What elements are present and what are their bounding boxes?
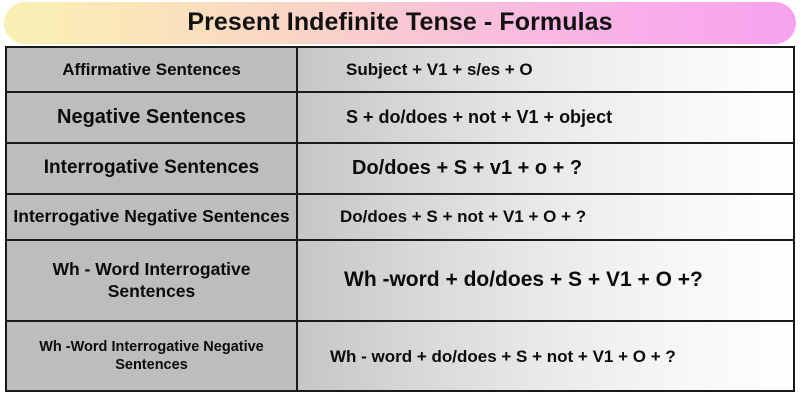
table-row: Interrogative Negative Sentences Do/does… bbox=[6, 194, 794, 240]
sentence-type-cell: Negative Sentences bbox=[6, 92, 297, 143]
sentence-type-cell: Wh - Word Interrogative Sentences bbox=[6, 240, 297, 322]
table-row: Negative Sentences S + do/does + not + V… bbox=[6, 92, 794, 143]
formula-cell: S + do/does + not + V1 + object bbox=[297, 92, 794, 143]
sentence-type-cell: Interrogative Sentences bbox=[6, 143, 297, 194]
page-title: Present Indefinite Tense - Formulas bbox=[187, 10, 612, 37]
sentence-type-cell: Wh -Word Interrogative Negative Sentence… bbox=[6, 321, 297, 391]
table-row: Wh -Word Interrogative Negative Sentence… bbox=[6, 321, 794, 391]
sentence-type-cell: Affirmative Sentences bbox=[6, 47, 297, 92]
formula-cell: Do/does + S + not + V1 + O + ? bbox=[297, 194, 794, 240]
table-row: Interrogative Sentences Do/does + S + v1… bbox=[6, 143, 794, 194]
table-row: Affirmative Sentences Subject + V1 + s/e… bbox=[6, 47, 794, 92]
formula-cell: Do/does + S + v1 + o + ? bbox=[297, 143, 794, 194]
page-title-banner: Present Indefinite Tense - Formulas bbox=[4, 2, 796, 44]
formula-table: Affirmative Sentences Subject + V1 + s/e… bbox=[5, 46, 795, 392]
formula-cell: Wh - word + do/does + S + not + V1 + O +… bbox=[297, 321, 794, 391]
formula-cell: Wh -word + do/does + S + V1 + O +? bbox=[297, 240, 794, 322]
table-row: Wh - Word Interrogative Sentences Wh -wo… bbox=[6, 240, 794, 322]
tense-formula-infographic: Present Indefinite Tense - Formulas Affi… bbox=[0, 0, 800, 400]
sentence-type-cell: Interrogative Negative Sentences bbox=[6, 194, 297, 240]
formula-cell: Subject + V1 + s/es + O bbox=[297, 47, 794, 92]
